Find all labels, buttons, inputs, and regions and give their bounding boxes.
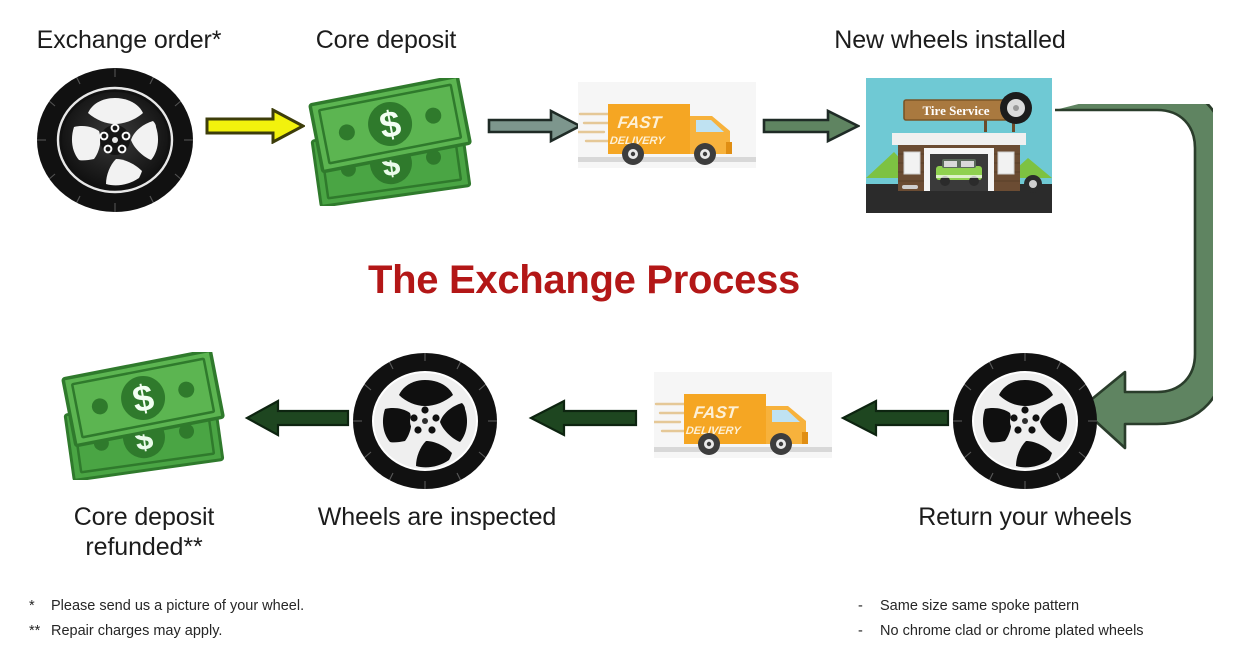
step-label-exchange-order: Exchange order* [0, 26, 258, 56]
cash-banknotes-icon-top: $ $ [305, 78, 477, 206]
shop-sign-text: Tire Service [922, 103, 989, 118]
footnote-marker: * [29, 594, 51, 619]
footnote-right-row: - No chrome clad or chrome plated wheels [858, 619, 1248, 644]
footnote-left-row: ** Repair charges may apply. [29, 619, 459, 644]
footnote-marker: - [858, 594, 880, 619]
refund-label-line2: refunded** [85, 533, 202, 561]
exchange-process-diagram: Exchange order* Core deposit New wheels … [0, 0, 1250, 666]
fast-delivery-truck-icon-bottom: FAST DELIVERY [654, 372, 832, 458]
footnote-text: Same size same spoke pattern [880, 594, 1079, 619]
svg-text:FAST: FAST [693, 403, 740, 422]
footnote-left-row: * Please send us a picture of your wheel… [29, 594, 459, 619]
footnote-marker: ** [29, 619, 51, 644]
cash-banknotes-icon-bottom: $ $ [58, 352, 230, 480]
fast-delivery-truck-icon-top: FAST DELIVERY [578, 82, 756, 168]
step-label-core-deposit-refunded: Core deposit refunded** [36, 503, 252, 562]
refund-label-line1: Core deposit [74, 503, 215, 531]
footnote-text: No chrome clad or chrome plated wheels [880, 619, 1144, 644]
arrow-order-to-deposit [205, 108, 305, 144]
svg-text:FAST: FAST [617, 113, 664, 132]
arrow-deposit-to-truck [487, 108, 582, 144]
step-label-new-wheels-installed: New wheels installed [780, 26, 1120, 56]
alloy-wheel-silver-icon-return [952, 352, 1098, 490]
step-label-return-your-wheels: Return your wheels [888, 503, 1162, 533]
footnotes-left: * Please send us a picture of your wheel… [29, 594, 459, 644]
alloy-wheel-silver-icon-inspected [352, 352, 498, 490]
tire-service-garage-icon: Tire Service [866, 78, 1052, 213]
footnote-text: Please send us a picture of your wheel. [51, 594, 304, 619]
arrow-truck-to-shop [762, 108, 860, 144]
footnote-marker: - [858, 619, 880, 644]
footnote-right-row: - Same size same spoke pattern [858, 594, 1248, 619]
alloy-wheel-dark-icon [36, 68, 194, 213]
arrow-return-to-truck [840, 398, 950, 438]
arrow-truck-to-inspection [528, 398, 638, 438]
step-label-core-deposit: Core deposit [278, 26, 494, 56]
page-title: The Exchange Process [0, 258, 1168, 303]
footnote-text: Repair charges may apply. [51, 619, 222, 644]
footnotes-right: - Same size same spoke pattern - No chro… [858, 594, 1248, 644]
step-label-wheels-inspected: Wheels are inspected [290, 503, 584, 533]
arrow-inspection-to-refund [244, 398, 350, 438]
